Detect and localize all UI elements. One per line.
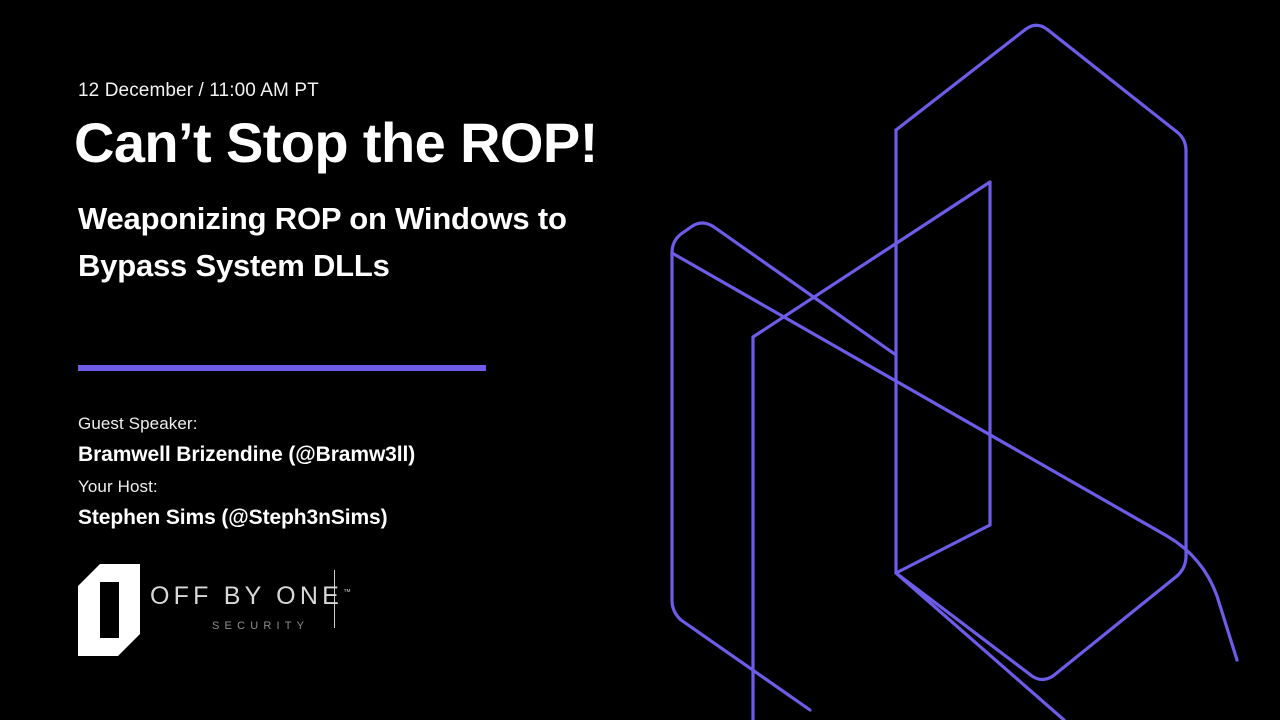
off-by-one-zero-mark-icon xyxy=(78,564,140,656)
accent-divider xyxy=(78,365,486,371)
logo-name-text: OFF BY ONE xyxy=(150,582,343,610)
guest-speaker-role-label: Guest Speaker: xyxy=(78,408,638,439)
cube-line-art xyxy=(640,0,1280,720)
decorative-cube-graphic xyxy=(640,0,1280,720)
host-name: Stephen Sims (@Steph3nSims) xyxy=(78,502,638,534)
text-cursor xyxy=(334,570,335,628)
artwork-final xyxy=(640,0,1280,720)
isometric-artwork xyxy=(640,0,1280,720)
background-artwork xyxy=(640,0,1280,720)
host-role-label: Your Host: xyxy=(78,471,638,502)
off-by-one-security-logo: OFF BY ONE™ SECURITY xyxy=(78,558,418,666)
date-time-label: 12 December / 11:00 AM PT xyxy=(78,80,319,102)
webinar-artwork xyxy=(640,0,1280,720)
guest-speaker-name: Bramwell Brizendine (@Bramw3ll) xyxy=(78,439,638,471)
page-title: Can’t Stop the ROP! xyxy=(74,112,598,175)
isometric-cube-line-art xyxy=(640,0,1280,720)
isometric-cube-line-art-detail xyxy=(640,0,1280,720)
logo-name: OFF BY ONE™ xyxy=(150,584,412,609)
speakers-section: Guest Speaker: Bramwell Brizendine (@Bra… xyxy=(78,408,638,534)
webinar-title-slide: 12 December / 11:00 AM PT Can’t Stop the… xyxy=(0,0,1280,720)
hexagon-cube-artwork xyxy=(640,0,1280,720)
logo-wordmark: OFF BY ONE™ SECURITY xyxy=(150,584,412,632)
cube-artwork xyxy=(640,0,1280,720)
slide-graphic xyxy=(640,0,1280,720)
trademark-icon: ™ xyxy=(343,588,351,597)
hexagon-artwork xyxy=(640,0,1280,720)
logo-tagline: SECURITY xyxy=(212,621,412,632)
isometric-cube-graphic xyxy=(640,0,1280,720)
slide-artwork xyxy=(640,0,1280,720)
page-subtitle: Weaponizing ROP on Windows to Bypass Sys… xyxy=(78,196,678,289)
artwork xyxy=(640,0,1280,720)
